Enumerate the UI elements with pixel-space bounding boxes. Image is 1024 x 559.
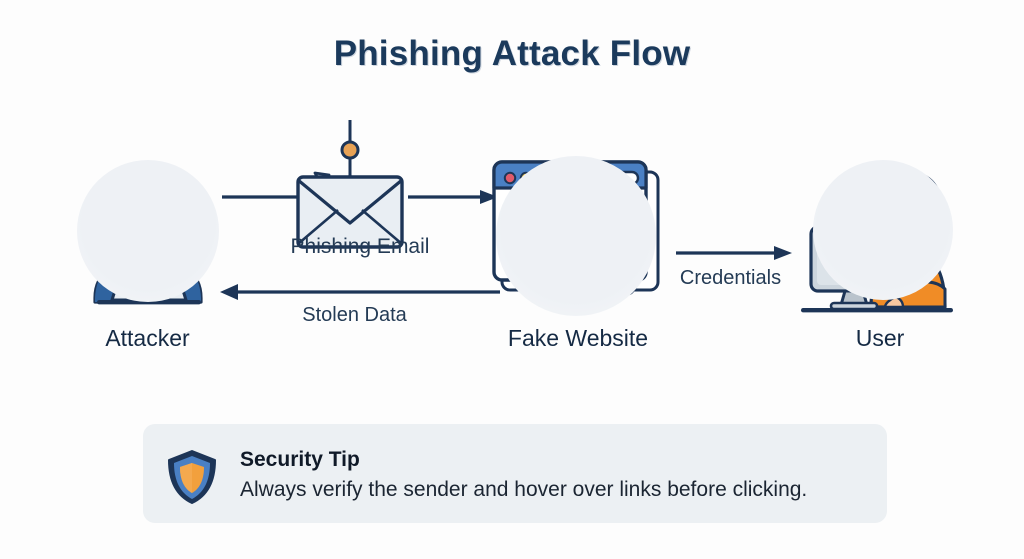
attacker-halo [77,160,219,302]
node-label-attacker: Attacker [65,325,230,352]
diagram-canvas: Phishing Attack Flow Attacker [0,0,1024,559]
arrow-label-credentials: Credentials [668,267,793,290]
browser-dot-red [505,173,515,183]
node-label-phishing-email: Phishing Email [270,235,450,259]
arrow-site-to-user [676,244,794,262]
security-tip-title: Security Tip [240,448,360,472]
arrow-site-to-attacker [220,283,500,301]
envelope-fishing-hook-icon [270,120,450,250]
fake-website-halo [496,156,656,316]
page-title: Phishing Attack Flow [0,34,1024,74]
node-user: User [795,155,965,355]
shield-icon [165,448,219,506]
arrow-label-stolen-data: Stolen Data [232,304,477,327]
security-tip-box: Security Tip Always verify the sender an… [143,424,887,523]
node-label-fake-website: Fake Website [478,325,678,352]
security-tip-text: Always verify the sender and hover over … [240,478,807,502]
node-label-user: User [795,325,965,352]
user-halo [813,160,953,300]
node-attacker: Attacker [65,155,230,355]
node-fake-website: Login Page Fake Website [478,150,678,355]
